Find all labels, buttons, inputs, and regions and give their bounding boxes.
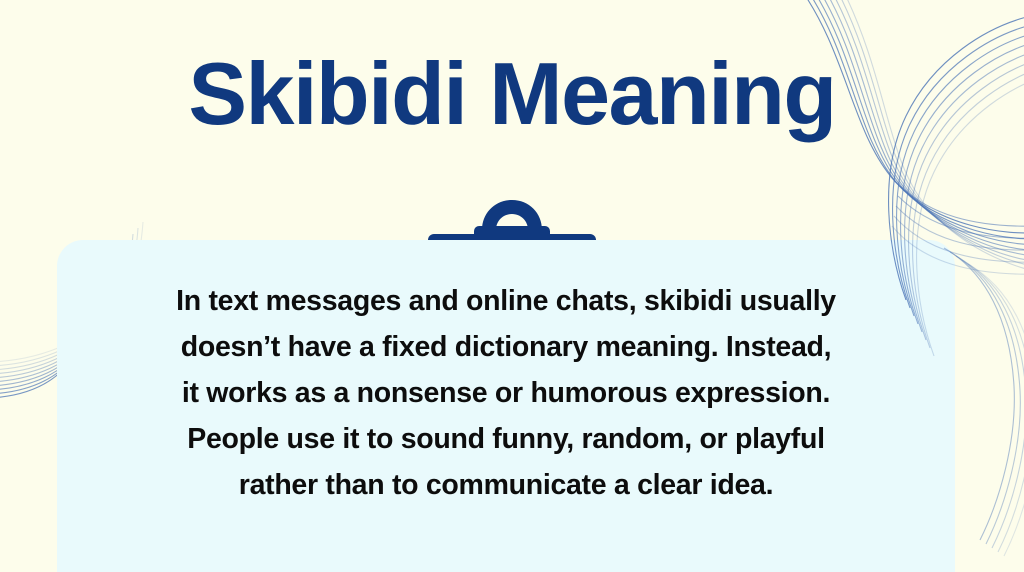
definition-line: doesn’t have a fixed dictionary meaning.… [109, 324, 903, 370]
definition-card: In text messages and online chats, skibi… [57, 240, 955, 572]
definition-paragraph: In text messages and online chats, skibi… [109, 278, 903, 508]
definition-line: In text messages and online chats, skibi… [109, 278, 903, 324]
page-title-text: Skibidi Meaning [188, 48, 835, 140]
definition-line: People use it to sound funny, random, or… [109, 416, 903, 462]
definition-line: rather than to communicate a clear idea. [109, 462, 903, 508]
definition-line: it works as a nonsense or humorous expre… [109, 370, 903, 416]
page-title: Skibidi Meaning [0, 48, 1024, 140]
infographic-canvas: Skibidi Meaning [0, 0, 1024, 572]
